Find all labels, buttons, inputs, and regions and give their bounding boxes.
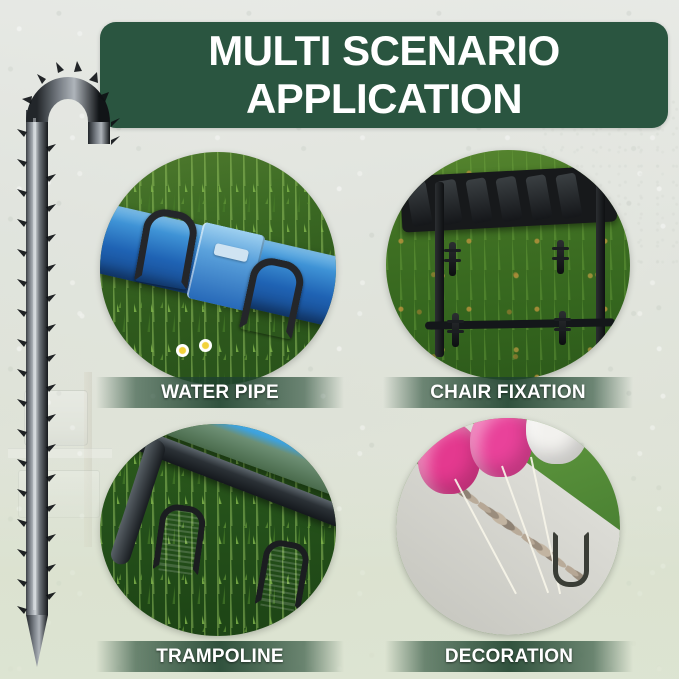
ground-stake bbox=[452, 313, 459, 347]
panel-trampoline-image bbox=[100, 424, 336, 636]
trampoline-scene bbox=[100, 424, 336, 636]
caption-chair-fixation-label: CHAIR FIXATION bbox=[430, 382, 586, 404]
panel-chair-fixation-image bbox=[386, 150, 630, 380]
chair-fixation-scene bbox=[386, 150, 630, 380]
caption-decoration: DECORATION bbox=[385, 641, 633, 672]
caption-water-pipe-label: WATER PIPE bbox=[161, 382, 279, 404]
title-line-1: MULTI SCENARIO bbox=[208, 28, 560, 74]
anchor-stake bbox=[553, 531, 589, 587]
bench-slat bbox=[555, 172, 582, 219]
panel-decoration-image bbox=[396, 418, 620, 635]
ground-stake bbox=[449, 242, 456, 276]
bench-slat bbox=[495, 175, 522, 222]
product-stake-svg bbox=[0, 22, 120, 670]
product-infographic: MULTI SCENARIO APPLICATION WATER PIPE bbox=[0, 0, 679, 679]
caption-trampoline: TRAMPOLINE bbox=[96, 641, 344, 672]
title-banner: MULTI SCENARIO APPLICATION bbox=[100, 22, 668, 128]
title-banner-text: MULTI SCENARIO APPLICATION bbox=[100, 22, 668, 128]
bench-leg-right bbox=[596, 178, 605, 357]
ground-stake bbox=[557, 240, 564, 274]
water-pipe-scene bbox=[100, 152, 336, 385]
decoration-scene bbox=[396, 418, 620, 635]
daisy-flower-1 bbox=[176, 344, 189, 357]
bench-slat bbox=[405, 180, 432, 227]
bench-slat bbox=[465, 177, 492, 224]
caption-water-pipe: WATER PIPE bbox=[96, 377, 344, 408]
bench-leg-left bbox=[435, 182, 444, 357]
panel-water-pipe-image bbox=[100, 152, 336, 385]
balloon-white bbox=[526, 418, 588, 464]
title-line-2: APPLICATION bbox=[246, 76, 522, 122]
product-stake bbox=[0, 22, 120, 670]
caption-decoration-label: DECORATION bbox=[445, 646, 573, 668]
bench-slat bbox=[525, 174, 552, 221]
caption-chair-fixation: CHAIR FIXATION bbox=[383, 377, 633, 408]
caption-trampoline-label: TRAMPOLINE bbox=[156, 646, 284, 668]
ground-stake bbox=[559, 311, 566, 345]
bench-seat bbox=[399, 165, 616, 232]
